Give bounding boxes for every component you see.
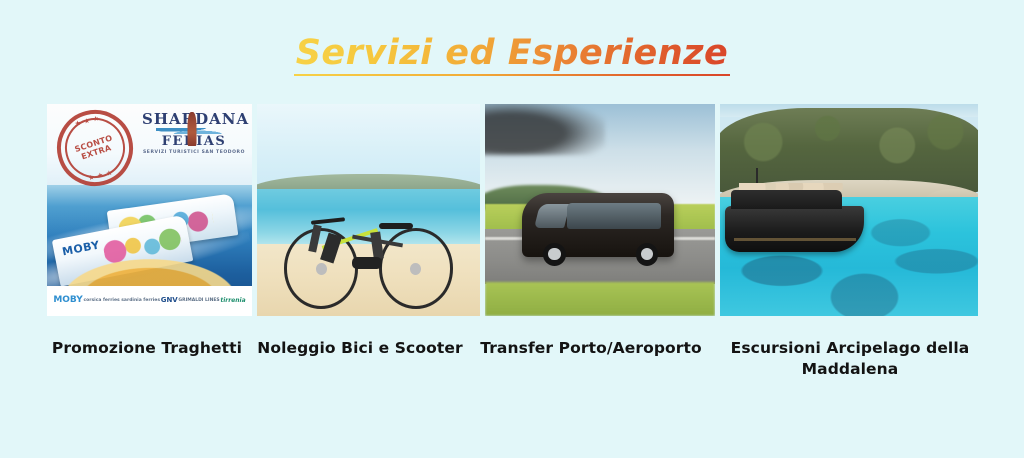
caption-transfer-porto-aeroporto: Transfer Porto/Aeroporto xyxy=(466,338,716,359)
partner-logo-moby: MOBY xyxy=(53,296,83,306)
partner-logo-grimaldi-lines: GRIMALDI LINES xyxy=(178,299,219,304)
van-side-windows xyxy=(567,203,661,228)
boat-hull-stripe xyxy=(734,238,857,241)
bicycle-seat-tube xyxy=(370,231,384,259)
service-image-escursioni-arcipelago-maddalena[interactable] xyxy=(720,104,978,316)
caption-promozione-traghetti: Promozione Traghetti xyxy=(40,338,254,359)
page-title-text: Servizi ed Esperienze xyxy=(292,34,733,76)
excursion-boat-icon xyxy=(725,206,864,253)
service-image-noleggio-bici-scooter[interactable] xyxy=(257,104,480,316)
partner-logo-gnv: GNV xyxy=(161,297,178,305)
partner-logo-tirrenia: tirrenia xyxy=(220,298,245,305)
bicycle-motor xyxy=(352,257,383,269)
service-gallery: MOBY ★★★ SCONTO EXTRA ★★★ SHARDANA FERIA… xyxy=(47,104,976,316)
shardana-ferias-logo: SHARDANA FERIAS SERVIZI TURISTICI SAN TE… xyxy=(142,112,246,155)
ferry-partner-logos: MOBY corsica ferries sardinia ferries GN… xyxy=(47,286,252,316)
service-captions: Promozione Traghetti Noleggio Bici e Sco… xyxy=(40,338,984,380)
boat-upper-deck xyxy=(731,190,842,209)
caption-noleggio-bici-scooter: Noleggio Bici e Scooter xyxy=(254,338,466,359)
page-title: Servizi ed Esperienze xyxy=(0,34,1024,76)
bicycle-saddle xyxy=(379,223,413,229)
bicycle-icon xyxy=(284,202,453,291)
nuraghe-figure-icon xyxy=(187,112,196,146)
van-front-wheel xyxy=(543,243,566,266)
caption-escursioni-arcipelago-maddalena: Escursioni Arcipelago della Maddalena xyxy=(716,338,984,380)
service-image-promozione-traghetti[interactable]: MOBY ★★★ SCONTO EXTRA ★★★ SHARDANA FERIA… xyxy=(47,104,252,316)
van-field-lower xyxy=(485,282,715,316)
partner-logo-corsica-sardinia: corsica ferries sardinia ferries xyxy=(84,299,161,304)
service-image-transfer-porto-aeroporto[interactable] xyxy=(485,104,715,316)
motion-blur-branches xyxy=(485,104,605,155)
van-rear-wheel xyxy=(636,243,659,266)
minivan-icon xyxy=(522,193,674,257)
shardana-logo-tagline: SERVIZI TURISTICI SAN TEODORO xyxy=(142,150,246,155)
stamp-label: SCONTO EXTRA xyxy=(66,131,125,166)
van-windshield xyxy=(534,204,570,228)
ferry-bottom-arc xyxy=(47,240,252,291)
